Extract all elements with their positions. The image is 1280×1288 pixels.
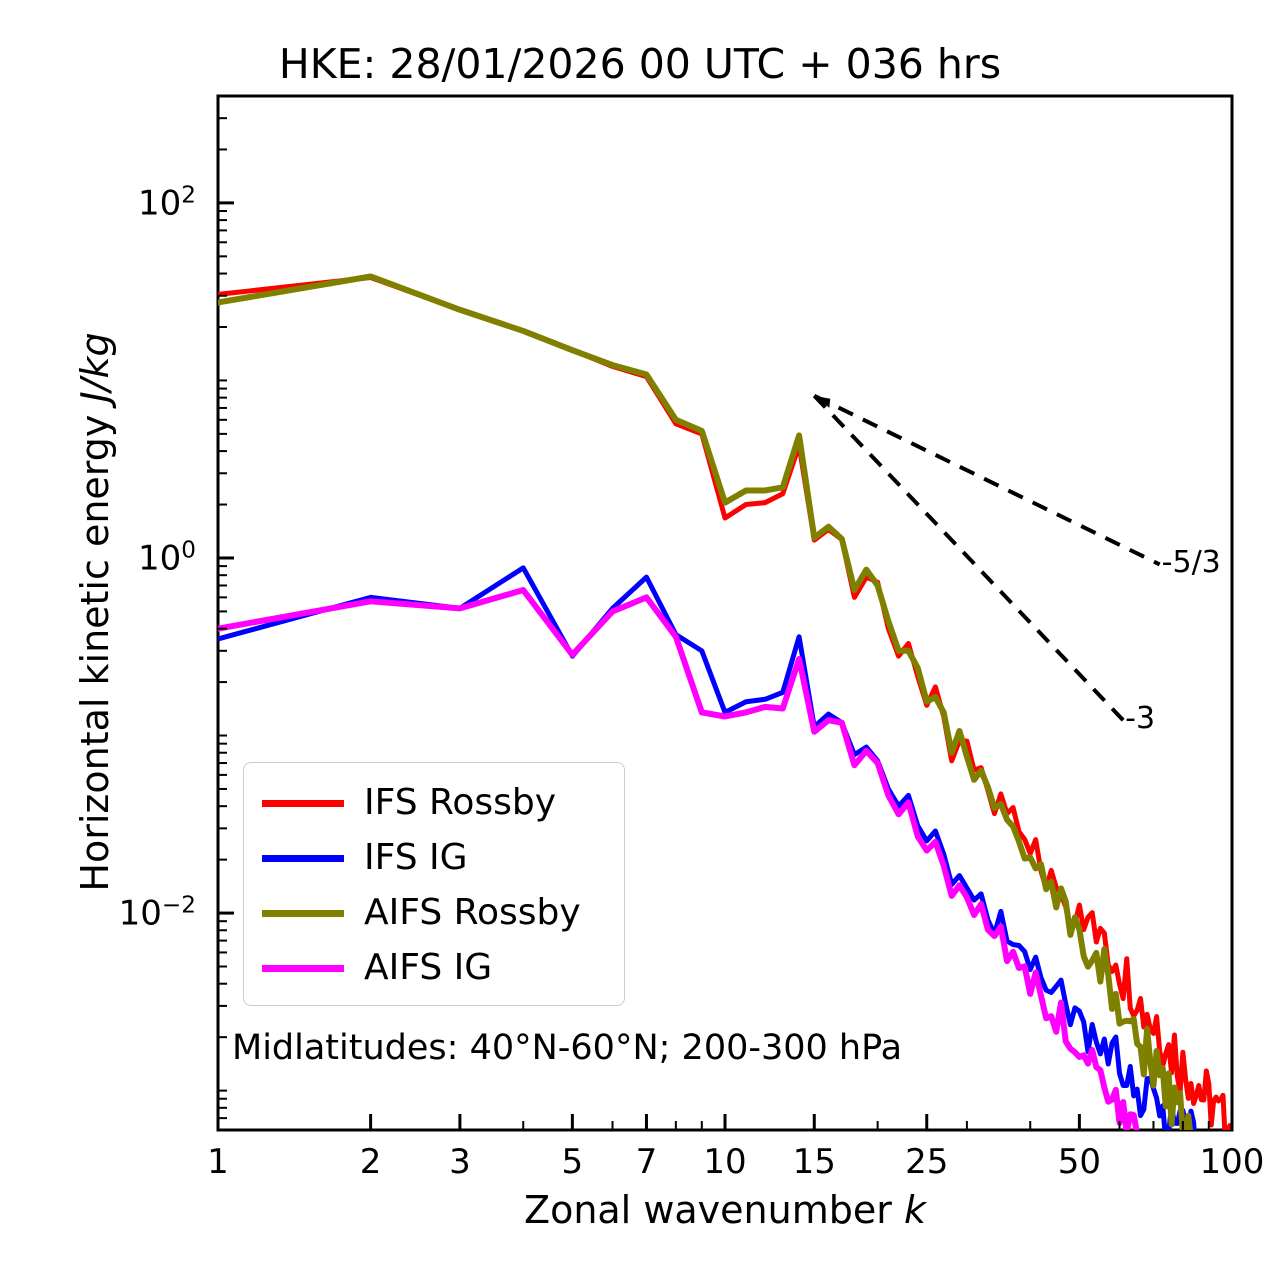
y-tick-exponent: −2 [162,892,196,918]
x-tick-label: 5 [562,1142,584,1182]
y-tick-exponent: 0 [181,537,196,563]
legend[interactable]: IFS RossbyIFS IGAIFS RossbyAIFS IG [243,762,625,1006]
legend-label: IFS IG [364,840,468,876]
x-tick-label: 7 [636,1142,658,1182]
legend-color-swatch [262,910,344,917]
legend-item-aifs-rossby[interactable]: AIFS Rossby [262,887,581,939]
reference-line [814,396,1159,565]
legend-label: AIFS IG [364,950,492,986]
series-line-aifs-rossby [218,276,1232,1208]
legend-item-aifs-ig[interactable]: AIFS IG [262,942,492,994]
y-tick-label: 102 [138,182,196,223]
x-tick-label: 2 [360,1142,382,1182]
reference-lines [814,396,1159,720]
region-annotation: Midlatitudes: 40°N-60°N; 200-300 hPa [232,1028,902,1068]
hke-spectrum-figure: HKE: 28/01/2026 00 UTC + 036 hrs Horizon… [0,0,1280,1288]
legend-label: AIFS Rossby [364,895,581,931]
reference-line [814,396,1123,720]
x-tick-label: 15 [793,1142,836,1182]
y-tick-exponent: 2 [181,182,196,208]
y-tick-mantissa: 10 [138,184,181,224]
x-tick-label: 100 [1200,1142,1265,1182]
x-tick-label: 10 [703,1142,746,1182]
legend-color-swatch [262,855,344,862]
reference-line-label: -5/3 [1162,545,1221,580]
legend-item-ifs-ig[interactable]: IFS IG [262,832,468,884]
y-tick-label: 100 [138,537,196,578]
x-tick-label: 3 [449,1142,471,1182]
x-tick-label: 1 [207,1142,229,1182]
y-tick-mantissa: 10 [138,539,181,579]
y-tick-label: 10−2 [119,892,196,933]
legend-item-ifs-rossby[interactable]: IFS Rossby [262,777,556,829]
x-tick-label: 50 [1058,1142,1101,1182]
y-tick-mantissa: 10 [119,894,162,934]
legend-label: IFS Rossby [364,785,556,821]
legend-color-swatch [262,800,344,807]
x-tick-label: 25 [905,1142,948,1182]
reference-line-label: -3 [1125,701,1155,736]
legend-color-swatch [262,965,344,972]
